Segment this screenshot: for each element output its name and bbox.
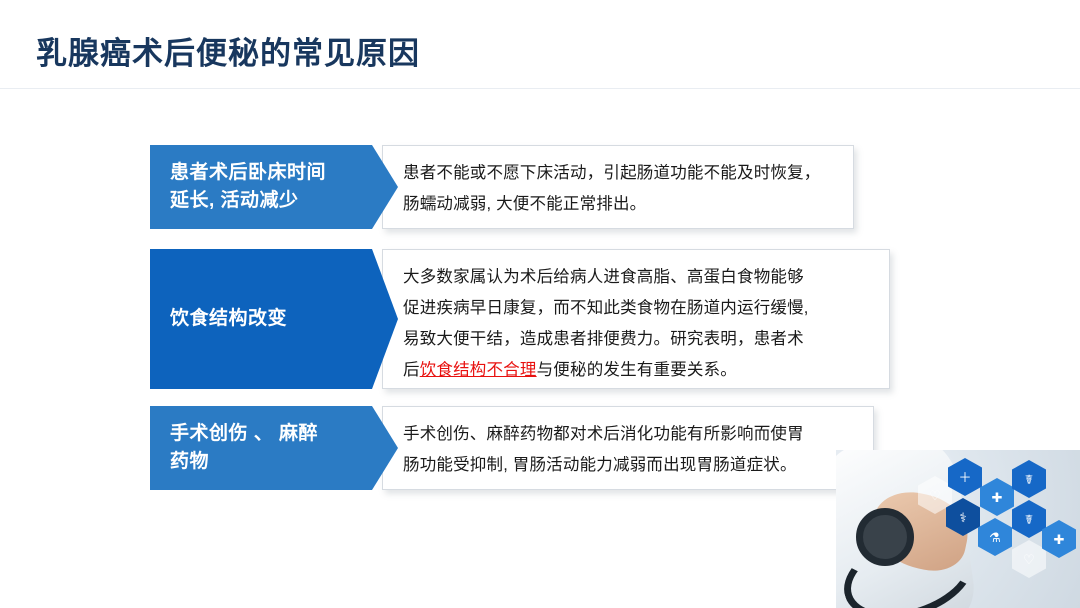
reason-label-line: 患者术后卧床时间 [170, 159, 326, 187]
reason-body-line: 肠功能受抑制, 胃肠活动能力减弱而出现胃肠道症状。 [403, 450, 857, 481]
reason-body-line-highlighted: 后饮食结构不合理与便秘的发生有重要关系。 [403, 355, 873, 386]
body-suffix: 与便秘的发生有重要关系。 [537, 361, 737, 379]
hex-staff-icon: ☤ [1012, 500, 1046, 538]
reason-row-2: 大多数家属认为术后给病人进食高脂、高蛋白食物能够 促进疾病早日康复，而不知此类食… [150, 249, 890, 389]
reason-body-line: 大多数家属认为术后给病人进食高脂、高蛋白食物能够 [403, 262, 873, 293]
reason-label-line: 手术创伤 、 麻醉 [170, 420, 318, 448]
reason-body-panel-3: 手术创伤、麻醉药物都对术后消化功能有所影响而使胃 肠功能受抑制, 胃肠活动能力减… [382, 406, 874, 490]
body-prefix: 后 [403, 361, 420, 379]
reason-body-line: 易致大便干结，造成患者排便费力。研究表明，患者术 [403, 324, 873, 355]
hexagon-icon-cluster: ♡ ＋ ✚ ☤ ⚕ ⚗ ☤ ♡ ✚ [916, 456, 1076, 606]
stethoscope-head-icon [856, 508, 914, 566]
reason-label-2[interactable]: 饮食结构改变 [150, 249, 398, 389]
slide: 乳腺癌术后便秘的常见原因 患者不能或不愿下床活动，引起肠道功能不能及时恢复， 肠… [0, 0, 1080, 608]
reason-label-line: 延长, 活动减少 [170, 187, 326, 215]
reason-body-line: 促进疾病早日康复，而不知此类食物在肠道内运行缓慢, [403, 293, 873, 324]
title-divider [0, 88, 1080, 89]
hex-flask-icon: ⚗ [978, 518, 1012, 556]
reason-body-line: 患者不能或不愿下床活动，引起肠道功能不能及时恢复， [403, 158, 837, 189]
reason-body-line: 手术创伤、麻醉药物都对术后消化功能有所影响而使胃 [403, 419, 857, 450]
hex-caduceus-icon: ☤ [1012, 460, 1046, 498]
page-title: 乳腺癌术后便秘的常见原因 [36, 28, 420, 73]
hex-plus-icon: ＋ [948, 458, 982, 496]
reason-label-3[interactable]: 手术创伤 、 麻醉 药物 [150, 406, 398, 490]
reason-body-line: 肠蠕动减弱, 大便不能正常排出。 [403, 189, 837, 220]
reason-body-panel-1: 患者不能或不愿下床活动，引起肠道功能不能及时恢复， 肠蠕动减弱, 大便不能正常排… [382, 145, 854, 229]
reason-row-1: 患者不能或不愿下床活动，引起肠道功能不能及时恢复， 肠蠕动减弱, 大便不能正常排… [150, 145, 850, 229]
reason-label-line: 药物 [170, 448, 318, 476]
hex-cross-icon: ✚ [980, 478, 1014, 516]
hex-heart-icon-2: ♡ [1012, 540, 1046, 578]
doctor-stethoscope-photo: ♡ ＋ ✚ ☤ ⚕ ⚗ ☤ ♡ ✚ [836, 450, 1080, 608]
reason-row-3: 手术创伤、麻醉药物都对术后消化功能有所影响而使胃 肠功能受抑制, 胃肠活动能力减… [150, 406, 880, 490]
highlighted-phrase: 饮食结构不合理 [420, 361, 537, 379]
hex-plus-icon-2: ✚ [1042, 520, 1076, 558]
reason-label-line: 饮食结构改变 [170, 305, 287, 333]
reason-label-1[interactable]: 患者术后卧床时间 延长, 活动减少 [150, 145, 398, 229]
reason-body-panel-2: 大多数家属认为术后给病人进食高脂、高蛋白食物能够 促进疾病早日康复，而不知此类食… [382, 249, 890, 389]
